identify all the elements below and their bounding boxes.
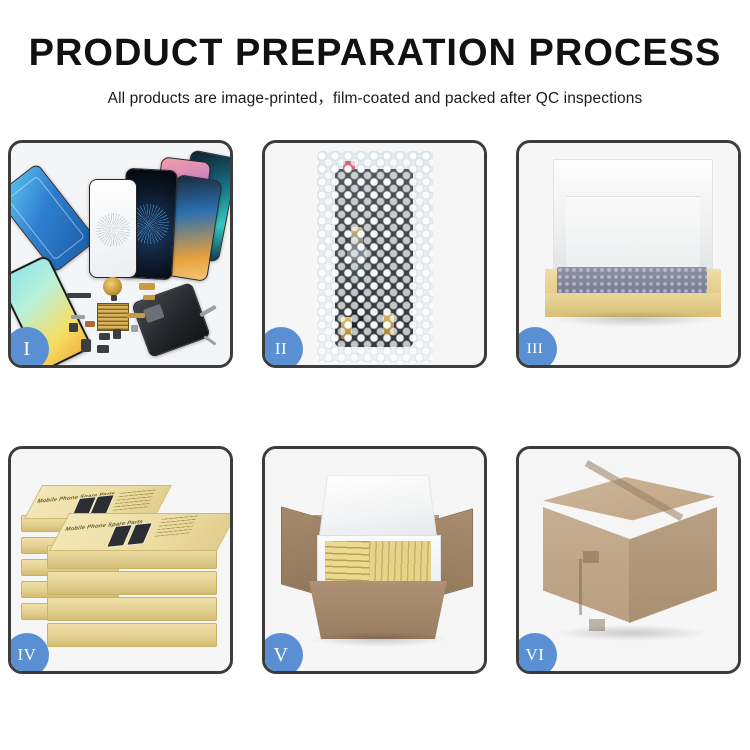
spare-part [143,295,155,300]
step-image-3 [519,143,738,365]
spare-part [67,293,91,298]
step-panel-4[interactable]: Mobile Phone Spare Parts Mobile Phone Sp… [8,446,233,674]
carton-right-face [629,507,717,623]
packed-kraft-boxes-side [325,541,369,585]
page-title: PRODUCT PREPARATION PROCESS [0,34,750,72]
spare-part [69,323,78,332]
spare-part [81,339,91,352]
gold-coil-part [103,277,122,296]
spare-part [139,283,155,290]
spare-part [85,321,95,327]
step-badge-3: III [516,327,557,368]
spare-part [199,305,217,317]
bubble-texture-overlay [317,151,433,363]
box-lid-inner-panel [566,196,700,271]
blue-film-phone [8,163,97,273]
process-step-grid: I II III [8,140,742,740]
step-badge-2: II [262,327,303,368]
spare-part [131,325,138,332]
step-panel-5[interactable]: V [262,446,487,674]
drop-shadow [553,625,709,641]
step-panel-2[interactable]: II [262,140,487,368]
step-image-1 [11,143,230,365]
page-header: PRODUCT PREPARATION PROCESS All products… [0,0,750,108]
step-badge-5: V [262,633,303,674]
spare-part [203,335,216,345]
bubble-wrap-bag [317,151,433,363]
step-badge-6: VI [516,633,557,674]
spare-part [97,345,109,353]
carton-tab [583,551,599,563]
spare-part [111,295,117,301]
styrofoam-lid [318,475,438,543]
step-panel-3[interactable]: III [516,140,741,368]
spare-part [113,329,121,339]
carton-corner-seam [579,559,582,615]
chip-array-part [97,303,129,331]
step-badge-1: I [8,327,49,368]
stacked-box [47,571,217,595]
step-image-4: Mobile Phone Spare Parts Mobile Phone Sp… [11,449,230,671]
box-lid [553,159,713,273]
spare-part [127,313,145,318]
step-panel-6[interactable]: VI [516,446,741,674]
phone-back-housing [131,282,211,358]
stacked-box [47,623,217,647]
step-badge-4: IV [8,633,49,674]
grey-foam-insert [557,267,707,295]
page-subtitle: All products are image-printed，film-coat… [0,72,750,108]
step-image-5 [265,449,484,671]
step-panel-1[interactable]: I [8,140,233,368]
drop-shadow [549,311,717,327]
carton-left-face [543,507,631,623]
step-image-2 [265,143,484,365]
spare-part [71,315,85,319]
stacked-box [47,597,217,621]
spare-part [99,333,110,340]
glass-screen-protector [89,179,137,278]
step-image-6 [519,449,738,671]
drop-shadow [309,631,449,647]
